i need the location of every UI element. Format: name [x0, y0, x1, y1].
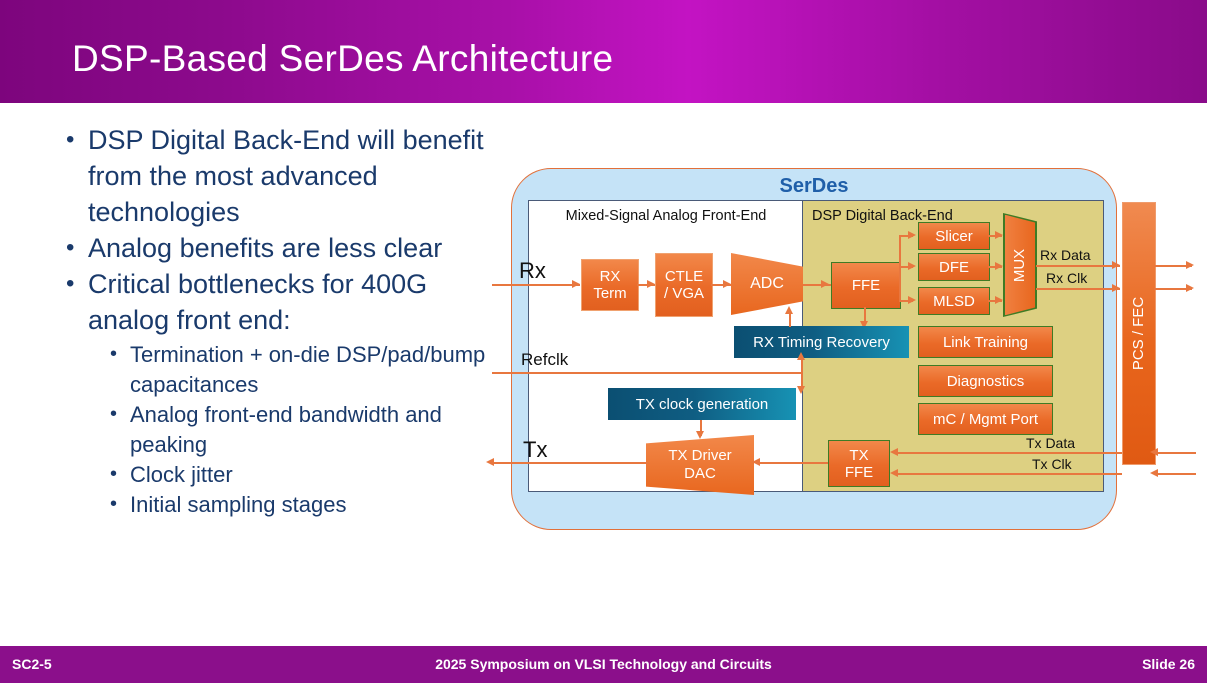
- ffe-to-timing-line: [864, 307, 866, 325]
- block-mux: MUX: [1003, 213, 1037, 317]
- serdes-title: SerDes: [512, 175, 1116, 198]
- sub-bullet-list: Termination + on-die DSP/pad/bump capaci…: [62, 340, 502, 520]
- ffe-label: FFE: [852, 277, 880, 294]
- pcs-tx-data-in-line: [1156, 452, 1196, 454]
- rx-data-line: [1036, 265, 1120, 267]
- block-adc: ADC: [731, 253, 803, 315]
- block-tx-driver-dac: TX Driver DAC: [646, 435, 754, 495]
- rxterm-to-ctle-line: [637, 284, 655, 286]
- timing-to-adc-arrow: [785, 306, 793, 314]
- tx-ffe-line1: TX: [849, 447, 868, 464]
- adc-to-ffe-line: [803, 284, 831, 286]
- dfe-label: DFE: [939, 259, 969, 276]
- slicer-label: Slicer: [935, 228, 973, 245]
- block-mc-mgmt-port: mC / Mgmt Port: [918, 403, 1053, 435]
- mlsd-to-mux-line: [988, 300, 1002, 302]
- ctle-to-adc-line: [711, 284, 731, 286]
- pcs-tx-clk-in-arrow: [1150, 469, 1158, 477]
- ffe-to-dfe-line: [899, 266, 913, 268]
- refclk-line: [492, 372, 802, 374]
- adc-to-ffe-arrow: [821, 280, 829, 288]
- txffe-to-dac-arrow: [752, 458, 760, 466]
- footer-slide-number: Slide 26: [1142, 656, 1195, 672]
- slicer-to-mux-line: [988, 235, 1002, 237]
- ctle-line1: CTLE: [665, 268, 703, 285]
- mlsd-label: MLSD: [933, 293, 975, 310]
- block-tx-ffe: TX FFE: [828, 440, 890, 487]
- ffe-to-mlsd-line: [899, 300, 913, 302]
- tx-clk-label: Tx Clk: [1032, 456, 1072, 472]
- link-training-label: Link Training: [943, 334, 1028, 351]
- adc-shape: [731, 253, 803, 315]
- tx-port-label: Tx: [523, 437, 547, 463]
- rx-term-line2: Term: [593, 285, 626, 302]
- analog-front-end-label: Mixed-Signal Analog Front-End: [529, 208, 803, 224]
- tx-data-line: [896, 452, 1122, 454]
- block-mlsd: MLSD: [918, 287, 990, 315]
- rx-data-label: Rx Data: [1040, 247, 1091, 263]
- tx-ffe-line2: FFE: [845, 464, 873, 481]
- mux-label-wrap: MUX: [1003, 213, 1037, 317]
- ctle-line2: / VGA: [664, 285, 704, 302]
- sub-bullet-item: Analog front-end bandwidth and peaking: [108, 400, 502, 460]
- refclk-down-arrow: [797, 386, 805, 394]
- block-dfe: DFE: [918, 253, 990, 281]
- tx-driver-dac-labels: TX Driver DAC: [646, 435, 754, 495]
- ffe-to-slicer-arrow: [908, 231, 916, 239]
- pcs-rx-clk-out-line: [1154, 288, 1192, 290]
- rxterm-to-ctle-arrow: [647, 280, 655, 288]
- mux-border: [1003, 213, 1037, 317]
- footer-conference-name: 2025 Symposium on VLSI Technology and Ci…: [0, 656, 1207, 672]
- rx-clk-label: Rx Clk: [1046, 270, 1087, 286]
- dsp-back-end-panel: DSP Digital Back-End: [802, 200, 1104, 492]
- pcs-rx-clk-out-arrow: [1186, 284, 1194, 292]
- bullet-list: DSP Digital Back-End will benefit from t…: [62, 122, 502, 520]
- tx-data-label: Tx Data: [1026, 435, 1075, 451]
- tx-clk-line: [896, 473, 1122, 475]
- tx-driver-dac-shape: [646, 435, 754, 495]
- timing-to-adc-line: [789, 313, 791, 327]
- analog-front-end-panel: Mixed-Signal Analog Front-End: [528, 200, 804, 492]
- mux-shape: [1005, 215, 1036, 316]
- block-ffe: FFE: [831, 262, 901, 309]
- serdes-container: SerDes: [511, 168, 1117, 530]
- sub-bullet-item: Initial sampling stages: [108, 490, 502, 520]
- dfe-to-mux-line: [988, 266, 1002, 268]
- refclk-branch-line: [801, 358, 803, 390]
- rx-term-line1: RX: [600, 268, 621, 285]
- diagnostics-label: Diagnostics: [947, 373, 1025, 390]
- pcs-fec-label-wrap: PCS / FEC: [1123, 203, 1155, 464]
- txclk-to-dac-arrow: [696, 431, 704, 439]
- block-ctle-vga: CTLE / VGA: [655, 253, 713, 317]
- rx-input-line: [492, 284, 580, 286]
- ffe-to-timing-arrow: [860, 321, 868, 329]
- bullet-item: Analog benefits are less clear: [62, 230, 502, 266]
- tx-driver-dac-line2: DAC: [684, 465, 716, 483]
- pcs-rx-data-out-line: [1154, 265, 1192, 267]
- block-tx-clock-generation: TX clock generation: [608, 388, 796, 420]
- rx-port-label: Rx: [519, 258, 546, 284]
- slicer-to-mux-arrow: [995, 231, 1003, 239]
- mux-label: MUX: [1012, 248, 1029, 281]
- ffe-to-dfe-arrow: [908, 262, 916, 270]
- sub-bullet-item: Termination + on-die DSP/pad/bump capaci…: [108, 340, 502, 400]
- sub-bullet-item: Clock jitter: [108, 460, 502, 490]
- pcs-rx-data-out-arrow: [1186, 261, 1194, 269]
- block-rx-timing-recovery: RX Timing Recovery: [734, 326, 909, 358]
- block-rx-term: RX Term: [581, 259, 639, 311]
- txffe-to-dac-line: [756, 462, 832, 464]
- txclk-to-dac-line: [700, 420, 702, 436]
- block-diagnostics: Diagnostics: [918, 365, 1053, 397]
- block-link-training: Link Training: [918, 326, 1053, 358]
- block-slicer: Slicer: [918, 222, 990, 250]
- rx-timing-recovery-label: RX Timing Recovery: [753, 334, 890, 351]
- rx-data-arrow: [1112, 261, 1120, 269]
- ffe-to-slicer-line: [899, 235, 913, 237]
- rx-clk-arrow: [1112, 284, 1120, 292]
- bullet-item: DSP Digital Back-End will benefit from t…: [62, 122, 502, 230]
- page-title: DSP-Based SerDes Architecture: [72, 38, 613, 80]
- refclk-port-label: Refclk: [521, 350, 568, 370]
- tx-clock-generation-label: TX clock generation: [636, 396, 769, 413]
- adc-label: ADC: [731, 253, 803, 315]
- slide-footer: SC2-5 2025 Symposium on VLSI Technology …: [0, 646, 1207, 683]
- ffe-fanout-bus: [899, 235, 901, 301]
- mc-mgmt-port-label: mC / Mgmt Port: [933, 411, 1038, 428]
- slide-header: DSP-Based SerDes Architecture: [0, 0, 1207, 103]
- refclk-up-arrow: [797, 352, 805, 360]
- ctle-to-adc-arrow: [723, 280, 731, 288]
- tx-clk-arrow: [890, 469, 898, 477]
- bullet-item: Critical bottlenecks for 400G analog fro…: [62, 266, 502, 338]
- block-pcs-fec: PCS / FEC: [1122, 202, 1156, 465]
- rx-clk-line: [1036, 288, 1120, 290]
- ffe-to-mlsd-arrow: [908, 296, 916, 304]
- dsp-back-end-label: DSP Digital Back-End: [812, 208, 953, 224]
- rx-input-arrow: [572, 280, 580, 288]
- mlsd-to-mux-arrow: [995, 296, 1003, 304]
- tx-output-line: [492, 462, 648, 464]
- pcs-fec-label: PCS / FEC: [1131, 297, 1148, 370]
- tx-data-arrow: [890, 448, 898, 456]
- pcs-tx-clk-in-line: [1156, 473, 1196, 475]
- tx-driver-dac-line1: TX Driver: [668, 447, 731, 465]
- dfe-to-mux-arrow: [995, 262, 1003, 270]
- pcs-tx-data-in-arrow: [1150, 448, 1158, 456]
